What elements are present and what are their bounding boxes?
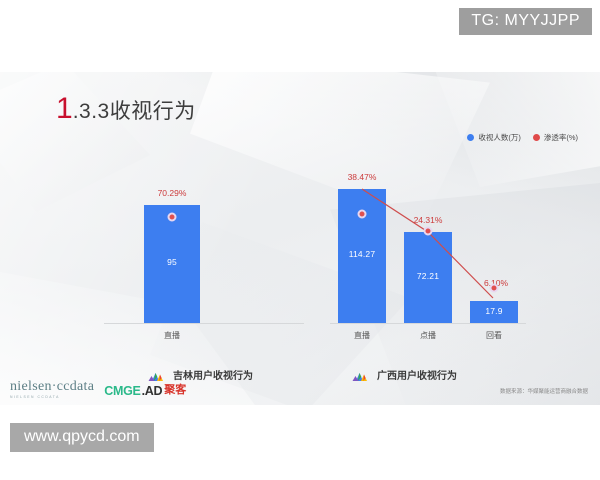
chart-jilin-plot: 95 70.29% 直播: [104, 164, 304, 324]
slide-canvas: 1.3.3收视行为 收视人数(万) 渗透率(%) 95 70.29% 直播: [0, 72, 600, 405]
nielsen-ccdata-logo: nielsen·ccdata NIELSEN CCDATA: [10, 380, 94, 399]
category-label-live: 直播: [354, 330, 370, 341]
nielsen-logo-subtext: NIELSEN CCDATA: [10, 396, 94, 399]
legend-item-viewers: 收视人数(万): [467, 132, 521, 143]
legend-label-viewers: 收视人数(万): [478, 132, 521, 143]
caption-guangxi-text: 广西用户收视行为: [377, 367, 457, 382]
penetration-marker-playback[interactable]: [490, 284, 499, 293]
red-dot-icon: [533, 134, 540, 141]
chart-jilin: 95 70.29% 直播: [104, 164, 304, 324]
legend-label-penetration: 渗透率(%): [544, 132, 578, 143]
bar-live[interactable]: 95: [144, 205, 200, 323]
chart-guangxi-plot: 114.27 38.47% 72.21 24.31% 17.9 6: [330, 164, 526, 324]
page-title: 1.3.3收视行为: [56, 94, 196, 124]
penetration-marker-live[interactable]: [358, 210, 367, 219]
nielsen-logo-text: nielsen·ccdata: [10, 380, 94, 394]
cmge-logo-c: CMGE: [104, 385, 140, 398]
telegram-watermark: TG: MYYJJPP: [459, 8, 592, 35]
chart-guangxi: 114.27 38.47% 72.21 24.31% 17.9 6: [330, 164, 526, 324]
bar-group-live[interactable]: 95: [144, 205, 200, 323]
chart-legend: 收视人数(万) 渗透率(%): [467, 132, 578, 143]
category-label-ondemand: 点播: [420, 330, 436, 341]
category-label-playback: 回看: [486, 330, 502, 341]
legend-item-penetration: 渗透率(%): [533, 132, 578, 143]
caption-guangxi: 广西用户收视行为: [352, 367, 457, 382]
page-title-number: 1: [56, 92, 73, 125]
footer-logos: nielsen·ccdata NIELSEN CCDATA CMGE .AD 聚…: [10, 380, 186, 399]
pct-label-live: 70.29%: [144, 188, 200, 198]
data-source-note: 数据来源：华媒聚能运营商融合数据: [500, 387, 588, 395]
penetration-marker-ondemand[interactable]: [424, 227, 433, 236]
url-watermark: www.qpycd.com: [10, 423, 154, 452]
page-title-text: .3.3收视行为: [73, 100, 196, 123]
cmge-logo-cn: 聚客: [164, 385, 186, 396]
colored-mountain-icon: [352, 369, 370, 381]
cmge-logo-ad: .AD: [142, 385, 163, 398]
cmge-ad-logo: CMGE .AD 聚客: [104, 385, 186, 400]
bar-value-live: 95: [144, 257, 200, 267]
category-label-live: 直播: [164, 330, 180, 341]
blue-dot-icon: [467, 134, 474, 141]
penetration-marker-live[interactable]: [168, 213, 177, 222]
x-axis-line: [104, 323, 304, 324]
penetration-trend-line: [330, 164, 526, 324]
